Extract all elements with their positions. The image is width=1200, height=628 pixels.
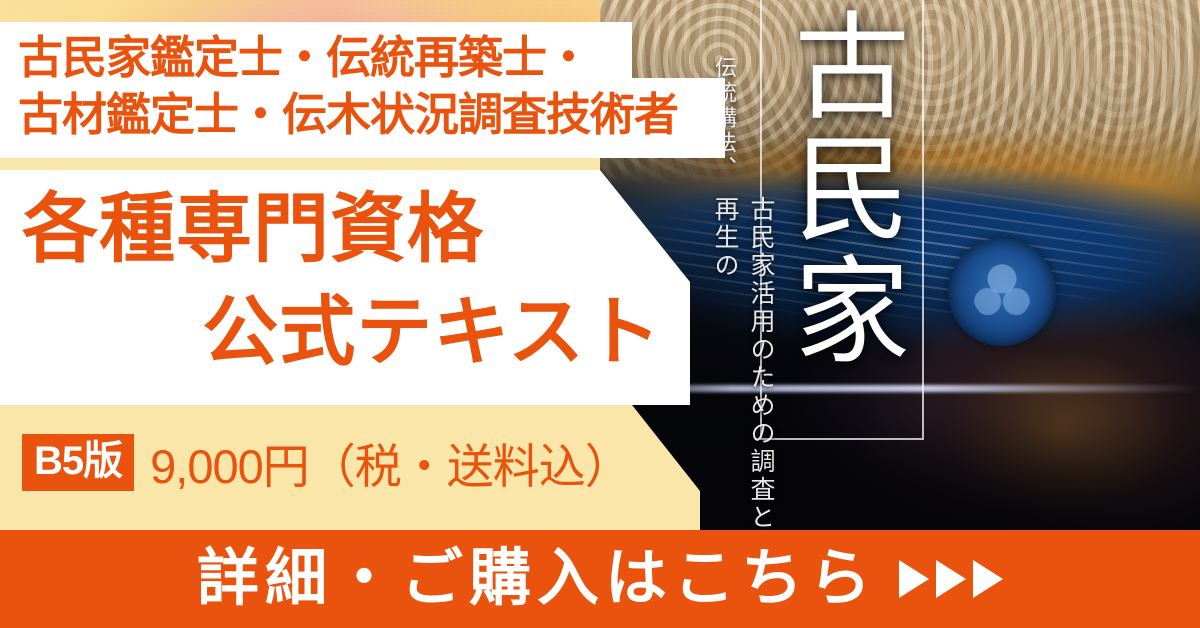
- cover-subtitle-line-2: 古民家活用のための調査と再生の: [706, 196, 778, 556]
- promo-banner: 伝統構法、 古民家活用のための調査と再生の 古民家 古民家鑑定士・伝統再築士・ …: [0, 0, 1200, 628]
- qualification-line-2: 古材鑑定士・伝木状況調査技術者: [18, 87, 718, 144]
- price-row: B5版 9,000円（税・送料込）: [22, 428, 631, 497]
- qualification-text: 古民家鑑定士・伝統再築士・ 古材鑑定士・伝木状況調査技術者: [18, 30, 718, 143]
- cta-arrows: [899, 560, 1003, 598]
- cta-label: 詳細・ご購入はこちら: [197, 548, 877, 610]
- chevron-right-icon: [973, 560, 1003, 598]
- family-crest-medallion: [948, 238, 1056, 346]
- chevron-right-icon: [899, 560, 929, 598]
- cover-title: 古民家: [786, 6, 906, 372]
- qualification-line-1: 古民家鑑定士・伝統再築士・: [18, 30, 718, 87]
- price-amount: 9,000円（税・送料込）: [150, 428, 631, 497]
- cta-button[interactable]: 詳細・ご購入はこちら: [0, 530, 1200, 628]
- heading-line-2: 公式テキスト: [0, 281, 672, 384]
- size-badge: B5版: [22, 434, 134, 491]
- page-title: 各種専門資格 公式テキスト: [0, 178, 672, 385]
- chevron-right-icon: [936, 560, 966, 598]
- heading-line-1: 各種専門資格: [0, 178, 672, 281]
